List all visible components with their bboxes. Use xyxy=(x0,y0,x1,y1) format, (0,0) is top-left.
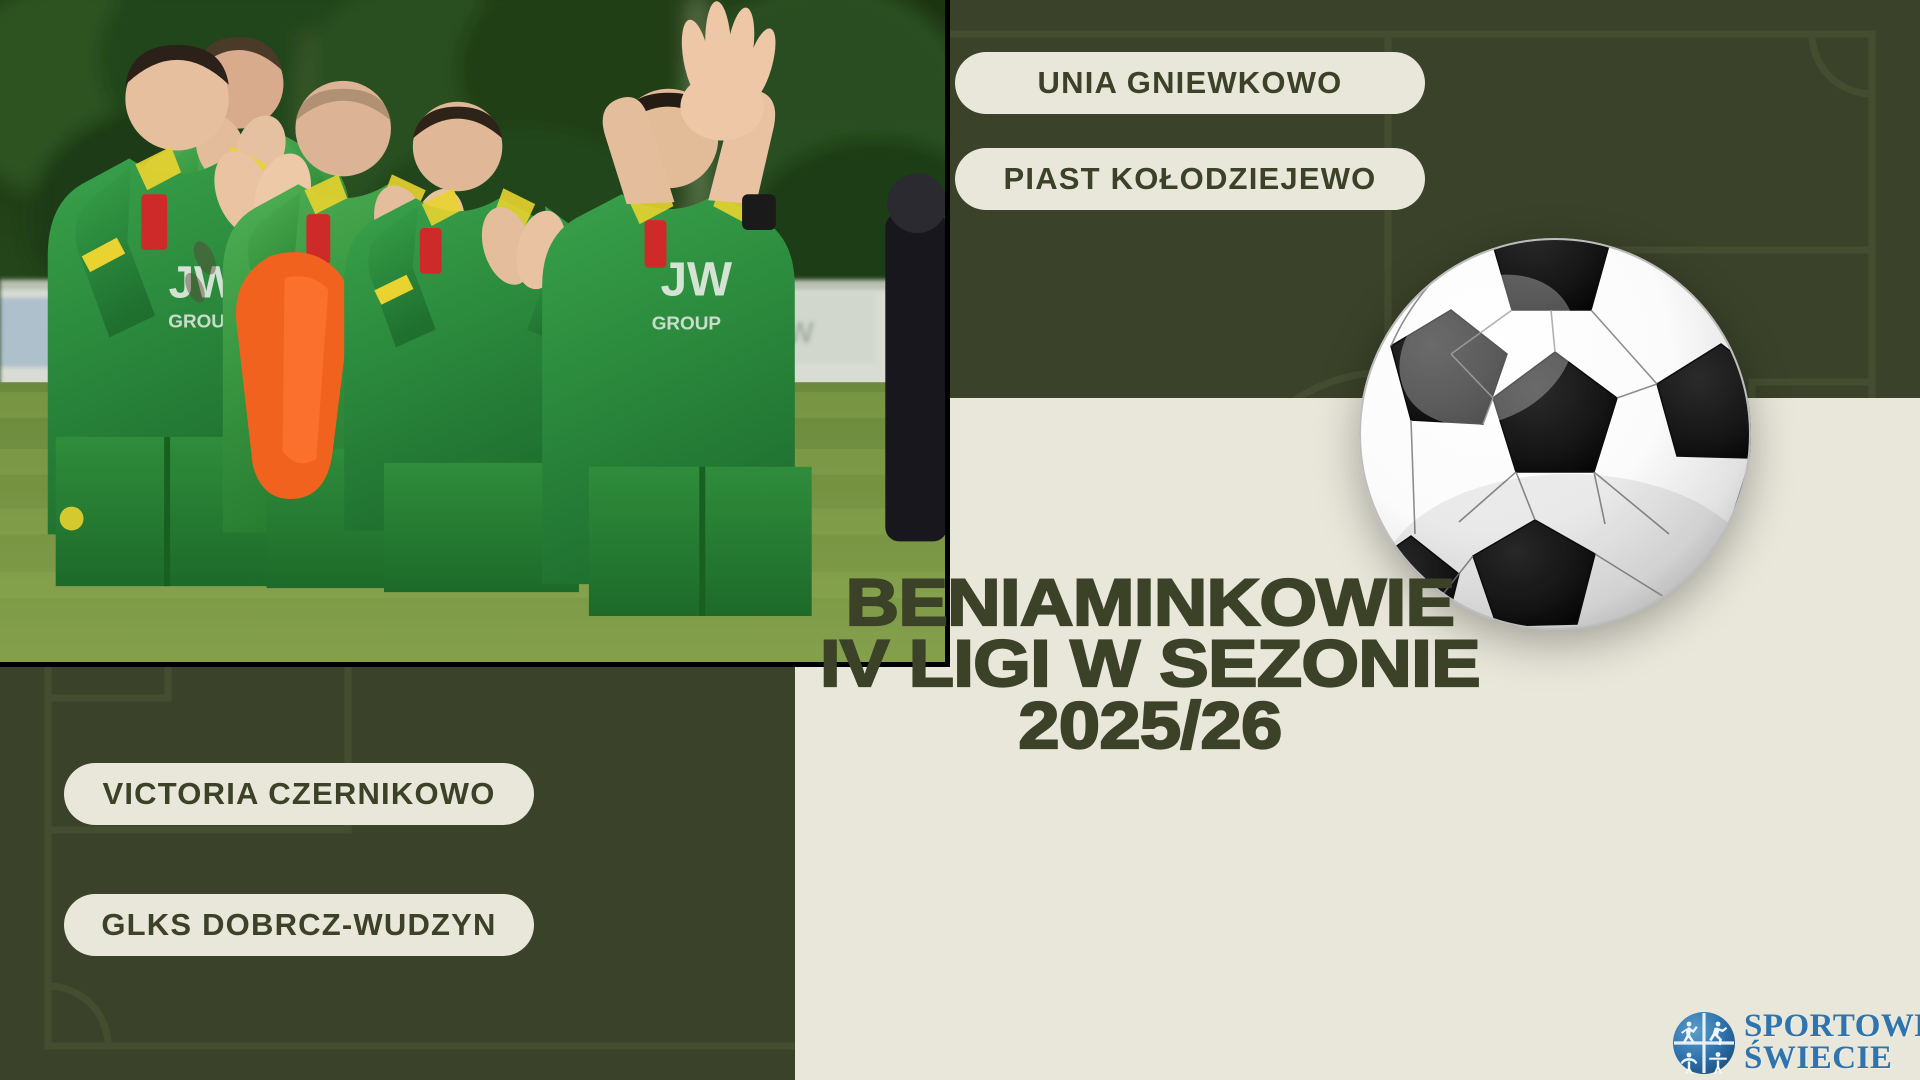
brand-logo-line-1: SPORTOWE xyxy=(1744,1011,1920,1043)
brand-logo[interactable]: SPORTOWE ŚWIECIE xyxy=(1672,1005,1920,1080)
svg-text:JW: JW xyxy=(661,254,733,307)
page-title: BENIAMINKOWIE IV LIGI W SEZONIE 2025/26 xyxy=(713,572,1587,756)
page-title-line-3: 2025/26 xyxy=(713,695,1587,756)
team-pill-label: VICTORIA CZERNIKOWO xyxy=(102,776,495,812)
team-photo: ROW xyxy=(0,0,950,667)
team-pill-glks-dobrcz-wudzyn[interactable]: GLKS DOBRCZ-WUDZYN xyxy=(64,894,534,956)
svg-text:GROUP: GROUP xyxy=(652,314,721,335)
brand-logo-text: SPORTOWE ŚWIECIE xyxy=(1744,1011,1920,1074)
four-athletes-circle-icon xyxy=(1672,1011,1736,1075)
page-title-line-2: IV LIGI W SEZONIE xyxy=(713,633,1587,694)
brand-logo-line-2: ŚWIECIE xyxy=(1744,1043,1920,1075)
team-photo-image: ROW xyxy=(0,0,945,662)
team-pill-victoria-czernikowo[interactable]: VICTORIA CZERNIKOWO xyxy=(64,763,534,825)
team-pill-label: UNIA GNIEWKOWO xyxy=(1038,65,1343,101)
page-title-line-1: BENIAMINKOWIE xyxy=(713,572,1587,633)
team-pill-piast-kolodziejewo[interactable]: PIAST KOŁODZIEJEWO xyxy=(955,148,1425,210)
team-pill-label: PIAST KOŁODZIEJEWO xyxy=(1004,161,1377,197)
team-pill-unia-gniewkowo[interactable]: UNIA GNIEWKOWO xyxy=(955,52,1425,114)
team-pill-label: GLKS DOBRCZ-WUDZYN xyxy=(101,907,496,943)
